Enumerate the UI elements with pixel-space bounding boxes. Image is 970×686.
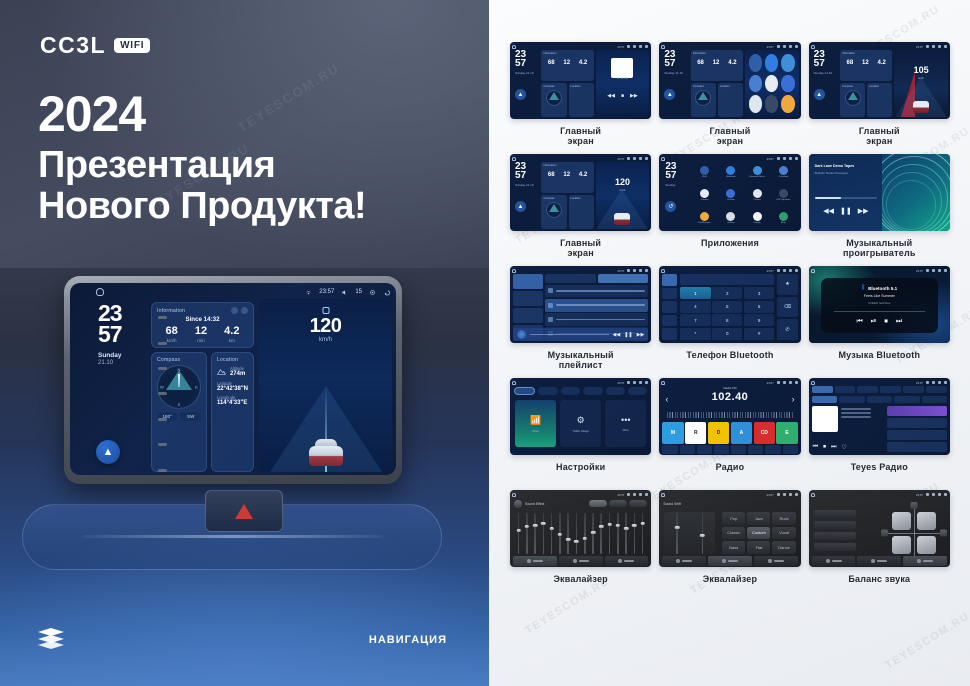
equalizer-tabs[interactable]	[513, 556, 648, 566]
frequency-scale[interactable]	[667, 412, 792, 418]
toolbar-button[interactable]	[748, 445, 763, 454]
balance-row[interactable]	[814, 532, 856, 540]
teyes-radio-tabs[interactable]	[812, 386, 947, 393]
app-icon[interactable]	[726, 212, 735, 221]
dial-key[interactable]: 6	[744, 301, 774, 313]
equalizer-tabs[interactable]	[812, 556, 947, 566]
app-item[interactable]: Chrome	[719, 185, 743, 206]
equalizer-band[interactable]	[639, 513, 646, 554]
media-control-button[interactable]: ❚❚	[624, 332, 632, 338]
slider-knob[interactable]	[675, 526, 680, 529]
app-icon[interactable]	[765, 95, 778, 113]
screenshot-thumbnail[interactable]: 23:57⏮⏹⏭♡	[809, 378, 950, 455]
side-key[interactable]	[158, 367, 167, 370]
slider-knob[interactable]	[616, 524, 621, 527]
app-icon[interactable]	[779, 212, 788, 221]
home-icon[interactable]	[512, 45, 516, 49]
navigation-arrow-icon[interactable]: ▲	[664, 89, 675, 100]
arrow-rt-icon[interactable]	[940, 530, 947, 537]
teyes-radio-tab[interactable]	[903, 386, 924, 393]
equalizer-band[interactable]	[556, 513, 563, 554]
media-controls[interactable]: ◀◀■▶▶	[596, 93, 650, 99]
speaker-icon[interactable]	[892, 536, 911, 554]
back-icon[interactable]	[383, 289, 390, 296]
equalizer-tabs[interactable]	[662, 556, 797, 566]
screenshot-thumbnail[interactable]: 23:57Radio FM102.40‹›MRDACDE	[659, 378, 800, 455]
media-control-button[interactable]: ⏯	[871, 318, 877, 326]
toolbar-button[interactable]	[765, 445, 780, 454]
compass-card-title: Compass	[693, 85, 714, 88]
slider-knob[interactable]	[583, 537, 588, 540]
settings-tab[interactable]	[583, 387, 602, 395]
side-hardware-keys[interactable]	[154, 305, 170, 475]
media-control-button[interactable]: ▶▶	[630, 93, 638, 99]
home-icon[interactable]	[661, 157, 665, 161]
app-item[interactable]: DSP Equalizer	[771, 185, 795, 206]
playlist-sidebar-item[interactable]	[513, 308, 543, 323]
preset-chip[interactable]	[589, 500, 607, 507]
teyes-radio-tab[interactable]	[857, 386, 878, 393]
home-icon[interactable]	[661, 381, 665, 385]
side-key[interactable]	[158, 392, 167, 395]
location-card[interactable]: Location Altitude 274m	[211, 352, 254, 472]
equalizer-band[interactable]	[622, 513, 629, 554]
equalizer-band[interactable]	[606, 513, 613, 554]
dial-key[interactable]: *	[680, 328, 710, 340]
dial-key[interactable]: 5	[712, 301, 742, 313]
settings-card[interactable]: 📶Wi-Fi	[515, 400, 556, 447]
call-icon[interactable]: ✆	[777, 319, 797, 340]
dialer-sidebar-item[interactable]	[662, 288, 677, 300]
equalizer-band[interactable]	[532, 513, 539, 554]
balance-row[interactable]	[814, 543, 856, 551]
navigation-arrow-icon[interactable]: ▲	[515, 89, 526, 100]
status-icon	[627, 45, 630, 48]
information-settings-icon[interactable]	[231, 307, 238, 314]
equalizer-tab[interactable]	[754, 556, 798, 566]
side-key[interactable]	[158, 469, 167, 472]
slider-knob[interactable]	[516, 529, 521, 532]
app-icon[interactable]	[749, 75, 762, 93]
equalizer-band[interactable]	[540, 513, 547, 554]
home-icon[interactable]	[661, 45, 665, 49]
slider-knob[interactable]	[533, 524, 538, 527]
slider-knob[interactable]	[632, 524, 637, 527]
speed-panel[interactable]: 120 km/h	[259, 299, 392, 472]
speed-panel[interactable]: 105km/h	[894, 50, 948, 117]
list-item[interactable]	[887, 406, 947, 416]
equalizer-band[interactable]	[573, 513, 580, 554]
equalizer-band[interactable]	[631, 513, 638, 554]
slider-knob[interactable]	[599, 525, 604, 528]
radio-preset[interactable]: A	[731, 422, 752, 444]
progress-bar[interactable]	[815, 197, 877, 199]
grid-cell: 23:572357Sunday↺Wi-FiBluetoothBluetooth …	[659, 154, 800, 260]
playlist-tab[interactable]	[545, 274, 596, 283]
location-card[interactable]: Location	[867, 83, 892, 117]
app-item[interactable]: Gallery	[719, 207, 743, 228]
status-icon	[795, 381, 798, 384]
preset-button[interactable]: Flat	[747, 541, 770, 554]
dial-key[interactable]: 3	[744, 287, 774, 299]
settings-tab[interactable]	[561, 387, 580, 395]
list-item[interactable]	[887, 430, 947, 440]
dialer-sidebar-item[interactable]	[662, 315, 677, 327]
toolbar-button[interactable]	[680, 445, 695, 454]
status-time: 23:57	[617, 381, 624, 385]
car-dashboard-illustration: 23:57 15	[0, 268, 489, 686]
app-icon[interactable]	[749, 54, 762, 72]
screenshot-thumbnail[interactable]: 23:57123456789*0#★⌫✆	[659, 266, 800, 343]
app-icon[interactable]	[749, 95, 762, 113]
preset-button[interactable]: Classic	[722, 527, 745, 540]
slider-knob[interactable]	[624, 527, 629, 530]
media-control-button[interactable]: ⏭	[831, 444, 836, 451]
equalizer-band[interactable]	[581, 513, 588, 554]
app-icon[interactable]	[765, 75, 778, 93]
dial-pad[interactable]: 123456789*0#	[680, 287, 774, 340]
bluetooth-music-panel: ᛒBluetooth 5.1Feels Like SummerChildish …	[821, 278, 938, 333]
dial-key[interactable]: #	[744, 328, 774, 340]
location-card[interactable]: Location	[569, 195, 594, 229]
tab-icon	[871, 559, 875, 563]
teyes-radio-filter[interactable]	[812, 396, 837, 403]
information-card[interactable]: Information68124.2	[541, 162, 593, 193]
home-icon[interactable]	[661, 493, 665, 497]
slider-knob[interactable]	[574, 540, 579, 543]
media-control-button[interactable]: ⏭	[896, 318, 902, 326]
settings-tabs[interactable]	[514, 387, 647, 395]
teyes-radio-filters[interactable]	[812, 396, 947, 403]
media-control-button[interactable]: ◀◀	[607, 93, 615, 99]
apps-shortcuts[interactable]	[745, 50, 799, 117]
progress-bar[interactable]	[834, 311, 926, 312]
teyes-radio-filter[interactable]	[867, 396, 892, 403]
speaker-icon[interactable]	[892, 512, 911, 530]
equalizer-band[interactable]	[523, 513, 530, 554]
preset-button[interactable]: Vocal	[772, 527, 795, 540]
preset-knob-icon[interactable]	[514, 500, 522, 508]
equalizer-band[interactable]	[589, 513, 596, 554]
slider-knob[interactable]	[640, 522, 645, 525]
settings-tab[interactable]	[628, 387, 647, 395]
mini-status-bar: 23:57	[661, 267, 797, 274]
home-icon[interactable]	[512, 157, 516, 161]
preset-chip[interactable]	[609, 500, 627, 507]
preset-button[interactable]: Bass	[722, 541, 745, 554]
app-icon[interactable]	[753, 166, 762, 175]
side-key[interactable]	[158, 316, 167, 319]
list-item[interactable]	[887, 418, 947, 428]
equalizer-band[interactable]	[548, 513, 555, 554]
fader-sliders[interactable]	[664, 512, 715, 554]
equalizer-tab[interactable]	[662, 556, 706, 566]
location-card-title: Location	[720, 85, 741, 88]
preset-buttons[interactable]: PopJazzRockClassicCustomVocalBassFlatDan…	[722, 512, 795, 554]
dialer-actions[interactable]: ★⌫✆	[777, 274, 797, 340]
equalizer-tab[interactable]	[903, 556, 947, 566]
equalizer-tab[interactable]	[559, 556, 603, 566]
app-item[interactable]: FileManager	[692, 207, 716, 228]
head-unit-screen[interactable]: 23:57 15	[70, 283, 396, 475]
information-card[interactable]: Information68124.2	[840, 50, 892, 81]
home-icon[interactable]	[811, 381, 815, 385]
teyes-radio-tab[interactable]	[835, 386, 856, 393]
navigation-arrow-icon[interactable]: ▲	[515, 201, 526, 212]
home-icon[interactable]	[811, 269, 815, 273]
dialer-sidebar-item[interactable]	[662, 328, 677, 340]
speaker-icon[interactable]	[917, 512, 936, 530]
media-control-button[interactable]: ⏹	[823, 444, 826, 451]
equalizer-tab[interactable]	[857, 556, 901, 566]
home-icon[interactable]	[512, 381, 516, 385]
screenshot-thumbnail[interactable]: 23:57Sound ShiftPopJazzRockClassicCustom…	[659, 490, 800, 567]
list-item[interactable]	[545, 313, 649, 326]
teyes-radio-tab[interactable]	[880, 386, 901, 393]
slider-knob[interactable]	[558, 533, 563, 536]
information-card[interactable]: Information68124.2	[691, 50, 743, 81]
media-widget[interactable]: 07:30 PM◀◀■▶▶	[596, 50, 650, 117]
toolbar-button[interactable]	[662, 445, 677, 454]
screenshot-thumbnail[interactable]: 23:57Dark Lane Demo TapesBollerbo Studen…	[809, 154, 950, 231]
dial-key[interactable]: 9	[744, 314, 774, 326]
teyes-radio-filter[interactable]	[839, 396, 864, 403]
slider-knob[interactable]	[525, 525, 530, 528]
app-icon[interactable]	[779, 166, 788, 175]
slider-knob[interactable]	[541, 522, 546, 525]
dialer-sidebar-item[interactable]	[662, 301, 677, 313]
side-key[interactable]	[158, 342, 167, 345]
slider-track	[642, 513, 644, 554]
playlist-sidebar-item[interactable]	[513, 274, 543, 289]
phone-number-field[interactable]	[680, 274, 774, 285]
app-icon[interactable]	[781, 54, 794, 72]
caption-line1: Телефон Bluetooth	[686, 350, 773, 360]
media-controls[interactable]: ◀◀❚❚▶▶	[815, 207, 877, 215]
slider-knob[interactable]	[549, 527, 554, 530]
equalizer-tab[interactable]	[708, 556, 752, 566]
list-item[interactable]	[887, 442, 947, 452]
teyes-radio-filter[interactable]	[894, 396, 919, 403]
app-item[interactable]: Contact	[745, 185, 769, 206]
media-control-button[interactable]: ◀◀	[613, 332, 621, 338]
radio-preset[interactable]: E	[776, 422, 797, 444]
list-item[interactable]	[545, 285, 649, 298]
settings-tab[interactable]	[514, 387, 535, 395]
toolbar-button[interactable]	[697, 445, 712, 454]
home-icon[interactable]	[512, 493, 516, 497]
station-list[interactable]	[887, 406, 947, 452]
compass-card[interactable]: Compass	[691, 83, 716, 117]
radio-toolbar[interactable]	[662, 445, 797, 454]
slider-knob[interactable]	[591, 531, 596, 534]
media-control-button[interactable]: ❚❚	[840, 207, 852, 215]
playlist-tab[interactable]	[598, 274, 649, 283]
dial-key[interactable]: 0	[712, 328, 742, 340]
slider-knob[interactable]	[700, 534, 705, 537]
app-icon[interactable]	[700, 212, 709, 221]
side-key[interactable]	[158, 443, 167, 446]
back-icon[interactable]: ↺	[665, 201, 676, 212]
compass-card[interactable]: Compass	[541, 195, 566, 229]
settings-card[interactable]: ⚙Traffic Usage	[560, 400, 601, 447]
compass-card[interactable]: Compass	[541, 83, 566, 117]
preset-button[interactable]: Jazz	[747, 512, 770, 525]
teyes-radio-filter[interactable]	[922, 396, 947, 403]
preset-button[interactable]: Rock	[772, 512, 795, 525]
status-icon	[639, 157, 642, 160]
settings-tab[interactable]	[606, 387, 625, 395]
app-item[interactable]: Wi-Fi	[692, 162, 716, 183]
stats-row: 68124.2	[543, 167, 591, 183]
home-icon[interactable]	[811, 45, 815, 49]
home-icon[interactable]	[661, 269, 665, 273]
toolbar-button[interactable]	[714, 445, 729, 454]
app-icon[interactable]	[753, 212, 762, 221]
status-icon	[789, 269, 792, 272]
side-key[interactable]	[158, 418, 167, 421]
list-item[interactable]	[545, 299, 649, 312]
app-icon[interactable]	[726, 189, 735, 198]
backspace-icon[interactable]: ⌫	[777, 297, 797, 318]
speaker-icon[interactable]	[917, 536, 936, 554]
media-control-button[interactable]: ⏮	[856, 318, 862, 326]
caption-line1: Главный	[560, 126, 601, 136]
navigation-arrow-icon[interactable]: ▲	[96, 440, 120, 464]
information-card[interactable]: Information68124.2	[541, 50, 593, 81]
radio-preset[interactable]: R	[685, 422, 706, 444]
arrow-up-icon[interactable]	[910, 502, 917, 509]
previous-station-icon[interactable]: ‹	[665, 394, 668, 404]
home-icon[interactable]	[811, 493, 815, 497]
home-icon[interactable]	[512, 269, 516, 273]
equalizer-band[interactable]	[598, 513, 605, 554]
compass-card[interactable]: Compass	[840, 83, 865, 117]
app-icon[interactable]	[765, 54, 778, 72]
app-item[interactable]: Camera	[692, 185, 716, 206]
media-controls[interactable]: ⏮⏹⏭♡	[813, 444, 847, 451]
app-icon[interactable]	[781, 95, 794, 113]
preset-button[interactable]: Pop	[722, 512, 745, 525]
next-station-icon[interactable]: ›	[792, 394, 795, 404]
equalizer-sliders[interactable]	[515, 513, 646, 554]
fader-band[interactable]	[690, 512, 715, 554]
screenshot-thumbnail[interactable]: 23:572357Sunday 21.10▲Information68124.2…	[809, 42, 950, 119]
equalizer-band[interactable]	[515, 513, 522, 554]
equalizer-band[interactable]	[614, 513, 621, 554]
preset-chips[interactable]	[589, 500, 647, 507]
screenshot-thumbnail[interactable]: 23:57Sound Effect	[510, 490, 651, 567]
media-control-button[interactable]: ⏮	[813, 444, 818, 451]
radio-preset[interactable]: D	[708, 422, 729, 444]
track-title	[556, 304, 646, 306]
stat-value: 4.2	[579, 172, 587, 178]
app-icon[interactable]	[700, 189, 709, 198]
app-item[interactable]: Calculator	[771, 162, 795, 183]
gear-icon[interactable]	[369, 289, 376, 296]
screenshot-thumbnail[interactable]: 23:572357Sunday 21.10▲Information68124.2…	[510, 42, 651, 119]
dial-key[interactable]: 4	[680, 301, 710, 313]
screenshot-thumbnail[interactable]: 23:572357Sunday↺Wi-FiBluetoothBluetooth …	[659, 154, 800, 231]
screenshot-thumbnail[interactable]: 23:572357Sunday 21.10▲Information68124.2…	[659, 42, 800, 119]
app-icon[interactable]	[753, 189, 762, 198]
settings-tab[interactable]	[538, 387, 557, 395]
preset-chip[interactable]	[629, 500, 647, 507]
star-icon[interactable]: ★	[777, 274, 797, 295]
equalizer-tab[interactable]	[605, 556, 649, 566]
media-control-button[interactable]: ◀◀	[823, 207, 834, 215]
teyes-radio-tab[interactable]	[812, 386, 833, 393]
app-icon[interactable]	[781, 75, 794, 93]
dialer-sidebar[interactable]	[662, 274, 677, 340]
screenshot-thumbnail[interactable]: 23:57◀◀❚❚▶▶	[510, 266, 651, 343]
dial-key[interactable]: 2	[712, 287, 742, 299]
balance-row[interactable]	[814, 510, 856, 518]
information-refresh-icon[interactable]	[241, 307, 248, 314]
media-control-button[interactable]: ■	[621, 93, 624, 99]
balance-pad[interactable]	[892, 512, 936, 554]
screenshot-thumbnail[interactable]: 23:57	[809, 490, 950, 567]
screenshot-thumbnail[interactable]: 23:57📶Wi-Fi⚙Traffic Usage•••More	[510, 378, 651, 455]
screenshot-thumbnail[interactable]: 23:57ᛒBluetooth 5.1Feels Like SummerChil…	[809, 266, 950, 343]
media-control-button[interactable]: ▶▶	[637, 332, 645, 338]
preset-button[interactable]: Dance	[772, 541, 795, 554]
equalizer-tab[interactable]	[812, 556, 856, 566]
dialer-sidebar-item[interactable]	[662, 274, 677, 286]
hazard-button[interactable]	[205, 490, 283, 532]
app-item[interactable]: Bluetooth	[719, 162, 743, 183]
app-icon[interactable]	[779, 189, 788, 198]
grid-cell: 23:57ᛒBluetooth 5.1Feels Like SummerChil…	[809, 266, 950, 372]
slider-knob[interactable]	[607, 523, 612, 526]
screenshot-thumbnail[interactable]: 23:572357Sunday 21.10▲Information68124.2…	[510, 154, 651, 231]
media-control-button[interactable]: ♡	[841, 444, 846, 451]
media-controls[interactable]: ⏮⏯⏹⏭	[856, 318, 902, 326]
toolbar-button[interactable]	[731, 445, 746, 454]
app-item[interactable]: Google	[745, 207, 769, 228]
now-playing-bar[interactable]: ◀◀❚❚▶▶	[513, 328, 648, 341]
location-card[interactable]: Location	[569, 83, 594, 117]
radio-preset[interactable]: M	[662, 422, 683, 444]
dial-key[interactable]: 8	[712, 314, 742, 326]
speed-panel[interactable]: 120km/h	[596, 162, 650, 229]
app-icon[interactable]	[726, 166, 735, 175]
app-item[interactable]: Maps	[771, 207, 795, 228]
dial-key[interactable]: 7	[680, 314, 710, 326]
playlist-sidebar-item[interactable]	[513, 291, 543, 306]
equalizer-tab[interactable]	[513, 556, 557, 566]
toolbar-button[interactable]	[783, 445, 798, 454]
dial-key[interactable]: 1	[680, 287, 710, 299]
slider-knob[interactable]	[566, 538, 571, 541]
app-icon[interactable]	[700, 166, 709, 175]
teyes-radio-tab[interactable]	[926, 386, 947, 393]
media-control-button[interactable]: ⏹	[884, 318, 888, 326]
status-icon	[777, 157, 780, 160]
equalizer-band[interactable]	[565, 513, 572, 554]
location-card[interactable]: Location	[718, 83, 743, 117]
fader-band[interactable]	[664, 512, 689, 554]
navigation-arrow-icon[interactable]: ▲	[814, 89, 825, 100]
settings-card[interactable]: •••More	[605, 400, 646, 447]
arrow-lf-icon[interactable]	[881, 530, 888, 537]
media-control-button[interactable]: ▶▶	[858, 207, 869, 215]
app-item[interactable]: Bluetooth Music	[745, 162, 769, 183]
radio-preset[interactable]: CD	[754, 422, 775, 444]
balance-row[interactable]	[814, 521, 856, 529]
preset-button[interactable]: Custom	[747, 527, 770, 540]
playlist-tabs[interactable]	[545, 274, 649, 283]
